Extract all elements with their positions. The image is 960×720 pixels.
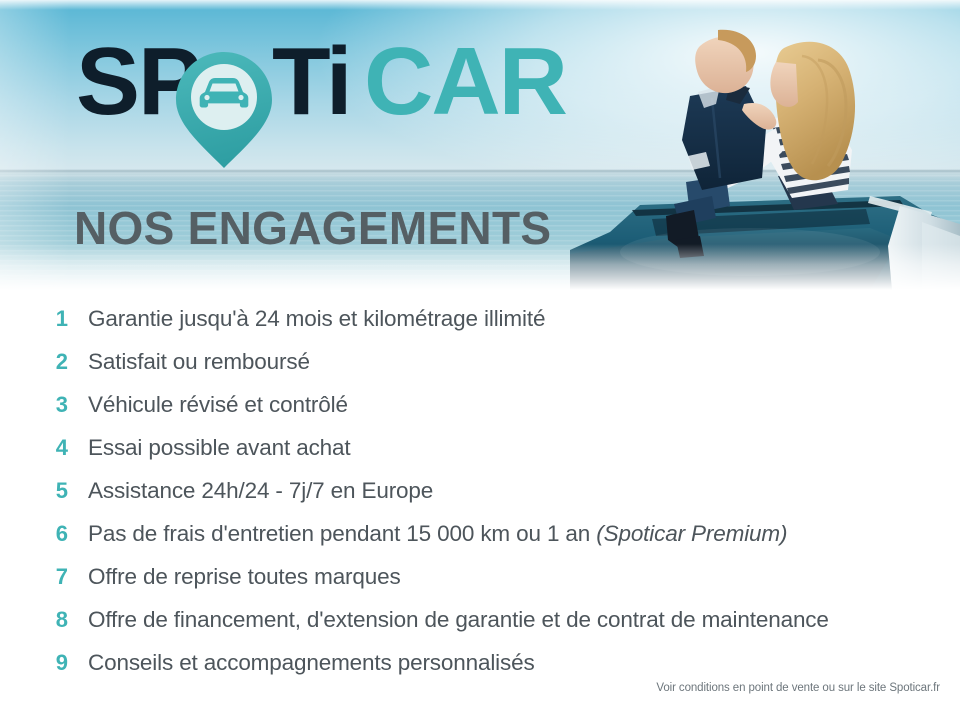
list-item: 7 Offre de reprise toutes marques (0, 566, 960, 609)
list-item: 2 Satisfait ou remboursé (0, 351, 960, 394)
list-item-label: Pas de frais d'entretien pendant 15 000 … (88, 523, 787, 546)
list-item-label: Satisfait ou remboursé (88, 351, 310, 374)
list-item: 6 Pas de frais d'entretien pendant 15 00… (0, 523, 960, 566)
list-item-number: 9 (0, 652, 88, 674)
list-item-label: Garantie jusqu'à 24 mois et kilométrage … (88, 308, 545, 331)
list-item: 5 Assistance 24h/24 - 7j/7 en Europe (0, 480, 960, 523)
list-item-label: Offre de reprise toutes marques (88, 566, 401, 589)
page-title: NOS ENGAGEMENTS (74, 205, 551, 251)
map-pin-car-icon (176, 52, 272, 168)
list-item-number: 4 (0, 437, 88, 459)
list-item-number: 8 (0, 609, 88, 631)
list-item-label: Conseils et accompagnements personnalisé… (88, 652, 535, 675)
list-item-label: Véhicule révisé et contrôlé (88, 394, 348, 417)
list-item: 8 Offre de financement, d'extension de g… (0, 609, 960, 652)
list-item-number: 5 (0, 480, 88, 502)
list-item-number: 7 (0, 566, 88, 588)
list-item-number: 2 (0, 351, 88, 373)
commitments-list: 1 Garantie jusqu'à 24 mois et kilométrag… (0, 308, 960, 695)
list-item-label: Essai possible avant achat (88, 437, 351, 460)
list-item-label: Offre de financement, d'extension de gar… (88, 609, 829, 632)
list-item: 4 Essai possible avant achat (0, 437, 960, 480)
list-item-number: 6 (0, 523, 88, 545)
list-item-number: 1 (0, 308, 88, 330)
list-item-number: 3 (0, 394, 88, 416)
spoticar-logo[interactable]: SP Ti CAR (76, 42, 576, 167)
list-item-label: Assistance 24h/24 - 7j/7 en Europe (88, 480, 433, 503)
list-item-emphasis: (Spoticar Premium) (596, 521, 787, 546)
spoticar-commitments-poster: SP Ti CAR NOS ENGAGEMENTS 1 (0, 0, 960, 720)
legal-footnote: Voir conditions en point de vente ou sur… (656, 682, 940, 694)
hero-top-fade (0, 0, 960, 10)
logo-ti-text: Ti (272, 28, 350, 135)
list-item: 3 Véhicule révisé et contrôlé (0, 394, 960, 437)
logo-car-text: CAR (364, 28, 567, 135)
list-item: 1 Garantie jusqu'à 24 mois et kilométrag… (0, 308, 960, 351)
